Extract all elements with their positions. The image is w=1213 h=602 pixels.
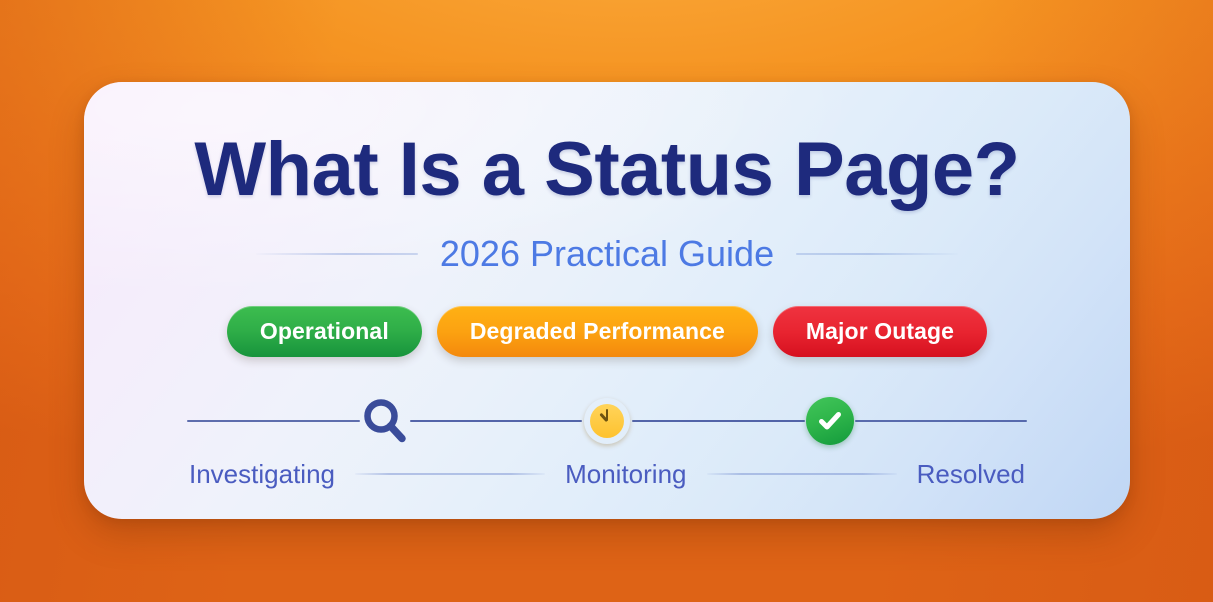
poster-canvas: What Is a Status Page? 2026 Practical Gu… (0, 0, 1213, 602)
timeline-label-investigating: Investigating (189, 459, 335, 490)
timeline-label-row: Investigating Monitoring Resolved (189, 452, 1025, 496)
timeline-connector-end (855, 420, 1028, 422)
page-title: What Is a Status Page? (84, 129, 1130, 211)
clock-face (590, 404, 624, 438)
incident-timeline: Investigating Monitoring Resolved (84, 390, 1130, 500)
timeline-connector-start (187, 420, 360, 422)
status-pill-operational[interactable]: Operational (227, 306, 422, 357)
checkmark-glyph (816, 407, 844, 435)
status-pill-group: Operational Degraded Performance Major O… (84, 306, 1130, 357)
timeline-step-icon-investigating (358, 394, 412, 448)
subtitle-rule-left (256, 253, 418, 255)
timeline-label-connector-2 (707, 473, 897, 475)
page-subtitle: 2026 Practical Guide (440, 234, 774, 274)
timeline-label-monitoring: Monitoring (565, 459, 686, 490)
status-page-card: What Is a Status Page? 2026 Practical Gu… (84, 82, 1130, 519)
timeline-step-icon-monitoring (580, 394, 634, 448)
timeline-connector-2 (632, 420, 805, 422)
timeline-icon-row (189, 390, 1025, 452)
magnifier-icon (360, 396, 410, 446)
timeline-step-icon-resolved (803, 394, 857, 448)
status-pill-major-outage[interactable]: Major Outage (773, 306, 987, 357)
subtitle-rule-right (796, 253, 958, 255)
check-circle-icon (806, 397, 854, 445)
timeline-connector-1 (410, 420, 583, 422)
subtitle-row: 2026 Practical Guide (84, 234, 1130, 274)
clock-icon (584, 398, 630, 444)
card-content: What Is a Status Page? 2026 Practical Gu… (84, 82, 1130, 519)
timeline-label-resolved: Resolved (917, 459, 1025, 490)
timeline-label-connector-1 (355, 473, 545, 475)
status-pill-degraded-performance[interactable]: Degraded Performance (437, 306, 758, 357)
